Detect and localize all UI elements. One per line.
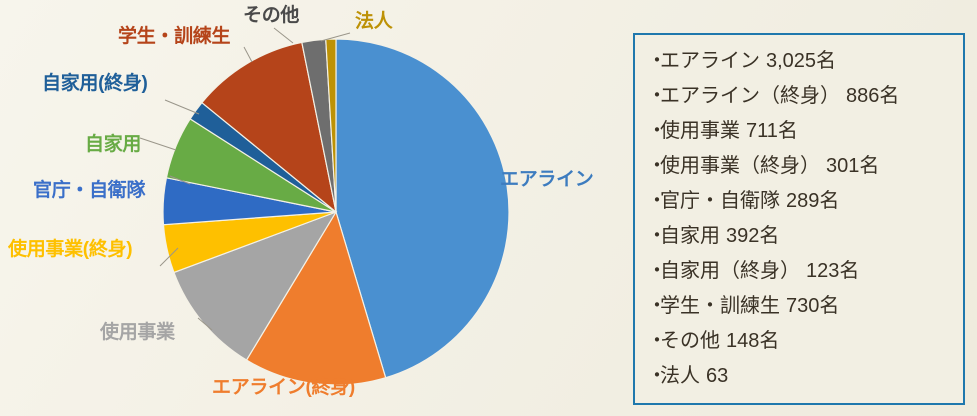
legend-item-value: 301名 (826, 149, 879, 178)
legend-bullet-icon: ・ (647, 324, 660, 353)
legend-bullet-icon: ・ (647, 219, 660, 248)
legend-item-value: 392名 (726, 219, 779, 248)
pie-slice-label: 使用事業 (100, 323, 175, 342)
pie-slice-label: 自家用(終身) (42, 74, 148, 93)
pie-slice-label: 使用事業(終身) (8, 240, 132, 259)
label-leader-line (274, 28, 293, 43)
legend-item: ・法人63 (647, 359, 963, 394)
legend-item-label: エアライン（終身） (660, 79, 840, 108)
legend-bullet-icon: ・ (647, 254, 660, 283)
pie-slice-label: 自家用 (85, 135, 141, 154)
label-leader-line (165, 100, 199, 114)
pie-slice-label: その他 (243, 6, 299, 25)
legend-bullet-icon: ・ (647, 289, 660, 318)
pie-slice-label: 官庁・自衛隊 (33, 181, 145, 200)
legend-item-value: 123名 (806, 254, 859, 283)
legend-item-label: 自家用 (660, 219, 720, 248)
pie-chart-area: エアラインエアライン(終身)使用事業使用事業(終身)官庁・自衛隊自家用自家用(終… (0, 0, 620, 416)
legend-item: ・官庁・自衛隊289名 (647, 184, 963, 219)
legend-item: ・使用事業（終身）301名 (647, 149, 963, 184)
legend-item-value: 730名 (786, 289, 839, 318)
legend-item-label: 法人 (660, 359, 700, 388)
legend-bullet-icon: ・ (647, 44, 660, 73)
label-leader-line (140, 138, 176, 150)
legend-bullet-icon: ・ (647, 114, 660, 143)
pie-slice-label: 学生・訓練生 (118, 27, 230, 46)
legend-item: ・エアライン3,025名 (647, 44, 963, 79)
legend-item-label: 学生・訓練生 (660, 289, 780, 318)
legend-item-label: その他 (660, 324, 720, 353)
legend-bullet-icon: ・ (647, 184, 660, 213)
legend-item: ・自家用392名 (647, 219, 963, 254)
legend-item-value: 3,025名 (766, 44, 836, 73)
legend-item-label: 使用事業 (660, 114, 740, 143)
pie-slice-label: エアライン (500, 170, 594, 189)
legend-item-value: 148名 (726, 324, 779, 353)
legend-item-label: 自家用（終身） (660, 254, 800, 283)
legend-item-label: 使用事業（終身） (660, 149, 820, 178)
legend-item: ・自家用（終身）123名 (647, 254, 963, 289)
legend-panel: ・エアライン3,025名・エアライン（終身）886名・使用事業711名・使用事業… (633, 33, 965, 405)
legend-item-value: 63 (706, 365, 728, 388)
chart-page: エアラインエアライン(終身)使用事業使用事業(終身)官庁・自衛隊自家用自家用(終… (0, 0, 977, 416)
legend-item-label: エアライン (660, 44, 760, 73)
legend-item: ・その他148名 (647, 324, 963, 359)
legend-item-value: 289名 (786, 184, 839, 213)
legend-item: ・学生・訓練生730名 (647, 289, 963, 324)
legend-list: ・エアライン3,025名・エアライン（終身）886名・使用事業711名・使用事業… (647, 44, 963, 394)
pie-slice-label: 法人 (355, 12, 392, 31)
legend-bullet-icon: ・ (647, 79, 660, 108)
pie-slice-label: エアライン(終身) (212, 378, 355, 397)
legend-bullet-icon: ・ (647, 149, 660, 178)
pie-chart-svg (0, 0, 620, 416)
label-leader-line (244, 47, 252, 62)
legend-item: ・エアライン（終身）886名 (647, 79, 963, 114)
legend-bullet-icon: ・ (647, 359, 660, 388)
legend-item-value: 886名 (846, 79, 899, 108)
legend-item-value: 711名 (746, 114, 798, 143)
legend-item: ・使用事業711名 (647, 114, 963, 149)
legend-item-label: 官庁・自衛隊 (660, 184, 780, 213)
